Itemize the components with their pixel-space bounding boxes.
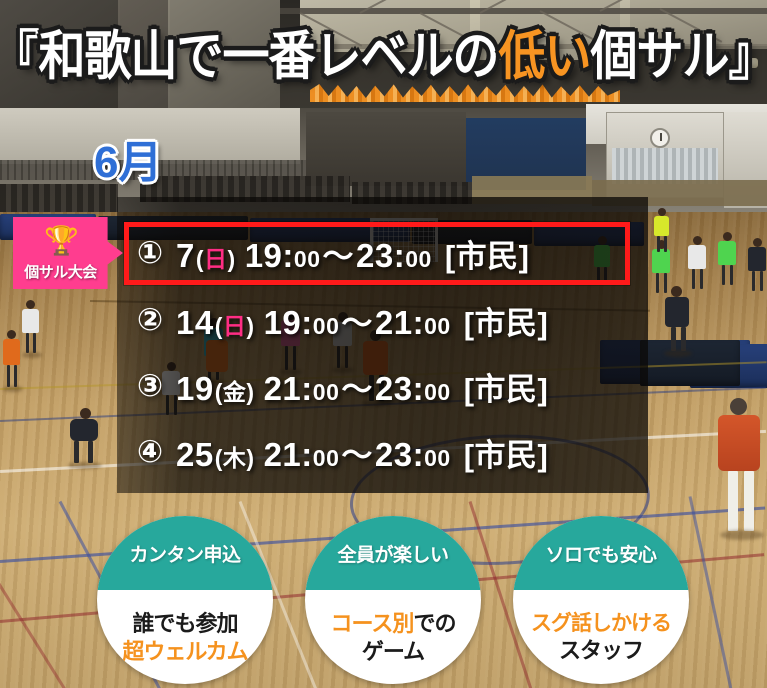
gym-booth-window	[612, 148, 718, 184]
schedule-weekday-inner: 金	[223, 379, 247, 405]
schedule-end-minute: 00	[424, 379, 451, 405]
feature-header-label: 全員が楽しい	[337, 540, 448, 567]
schedule-venue: [市民]	[464, 364, 549, 409]
schedule-weekday: (日)	[215, 307, 255, 341]
schedule-venue: [市民]	[464, 298, 549, 343]
tournament-badge-label: 個サル大会	[13, 261, 108, 282]
schedule-row-number: ④	[124, 434, 176, 470]
gym-clock	[650, 128, 670, 148]
schedule-day: 25	[176, 436, 214, 474]
feature-header: ソロでも安心	[513, 516, 689, 590]
schedule-end-hour: 21	[375, 304, 413, 341]
feature-line-2: スタッフ	[559, 639, 643, 664]
schedule-row[interactable]: ③ 19(金)21:00〜23:00[市民]	[124, 355, 634, 417]
feature-circle-easy-signup[interactable]: カンタン申込 誰でも参加 超ウェルカム	[97, 516, 273, 684]
feature-line-1-ink: での	[413, 611, 455, 636]
feature-line-2: 超ウェルカム	[122, 640, 247, 665]
schedule-end-minute: 00	[424, 313, 451, 339]
schedule-row-body: 25(木)21:00〜23:00[市民]	[176, 430, 548, 475]
feature-line-1: 誰でも参加	[132, 612, 237, 637]
feature-header: カンタン申込	[97, 516, 273, 590]
schedule-row-body: 14(日)19:00〜21:00[市民]	[176, 298, 548, 343]
schedule-end-time: 21:00	[375, 304, 451, 342]
schedule-weekday-inner: 日	[223, 313, 247, 339]
title-banner: 『和歌山で一番レベルの低い個サル』	[0, 0, 767, 110]
schedule-row-number: ②	[124, 302, 176, 338]
feature-line-2: ゲーム	[362, 640, 424, 665]
feature-header-label: ソロでも安心	[545, 540, 656, 567]
schedule-start-time: 21:00	[264, 436, 340, 474]
schedule-start-time: 21:00	[264, 370, 340, 408]
schedule-row[interactable]: ④ 25(木)21:00〜23:00[市民]	[124, 421, 634, 483]
schedule-start-minute: 00	[313, 313, 340, 339]
trophy-icon: 🏆	[44, 224, 78, 258]
schedule-weekday: (金)	[215, 373, 255, 407]
feature-circle-fun-for-all[interactable]: 全員が楽しい コース別での ゲーム	[305, 516, 481, 684]
schedule-start-minute: 00	[313, 379, 340, 405]
schedule-row-body: 19(金)21:00〜23:00[市民]	[176, 364, 548, 409]
title-close-bracket: 』	[729, 25, 767, 84]
schedule-weekday: (木)	[215, 439, 255, 473]
title-open-bracket: 『	[0, 25, 39, 84]
gym-bleachers	[0, 184, 118, 214]
feature-circles: カンタン申込 誰でも参加 超ウェルカム 全員が楽しい コース別での ゲーム ソロ…	[0, 516, 767, 688]
schedule-end-time: 23:00	[375, 436, 451, 474]
gym-dark-curtain	[306, 112, 466, 186]
schedule-day: 14	[176, 304, 214, 342]
month-label: 6月	[94, 141, 162, 185]
feature-header: 全員が楽しい	[305, 516, 481, 590]
schedule-start-hour: 21	[264, 370, 302, 407]
title-post-text: 個サル	[591, 25, 729, 84]
schedule-time-separator: 〜	[341, 430, 373, 475]
title-pre-text: 和歌山で一番レベルの	[39, 25, 499, 84]
schedule-start-hour: 21	[264, 436, 302, 473]
schedule-row-number: ③	[124, 368, 176, 404]
highlighted-schedule-box	[124, 222, 630, 285]
schedule-start-time: 19:00	[264, 304, 340, 342]
schedule-weekday-inner: 木	[223, 445, 247, 471]
schedule-end-hour: 23	[375, 370, 413, 407]
schedule-end-minute: 00	[424, 445, 451, 471]
feature-circle-solo-friendly[interactable]: ソロでも安心 スグ話しかける スタッフ	[513, 516, 689, 684]
schedule-day: 19	[176, 370, 214, 408]
schedule-row[interactable]: ② 14(日)19:00〜21:00[市民]	[124, 289, 634, 351]
schedule-end-hour: 23	[375, 436, 413, 473]
page-title: 『和歌山で一番レベルの低い個サル』	[0, 29, 767, 82]
tournament-badge: 🏆 個サル大会	[13, 217, 123, 289]
schedule-start-hour: 19	[264, 304, 302, 341]
schedule-time-separator: 〜	[341, 364, 373, 409]
schedule-time-separator: 〜	[341, 298, 373, 343]
feature-line-1: コース別での	[331, 612, 456, 637]
feature-body: スグ話しかける スタッフ	[513, 592, 689, 684]
schedule-end-time: 23:00	[375, 370, 451, 408]
feature-body: 誰でも参加 超ウェルカム	[97, 592, 273, 684]
schedule-venue: [市民]	[464, 430, 549, 475]
feature-header-label: カンタン申込	[129, 540, 240, 567]
feature-body: コース別での ゲーム	[305, 592, 481, 684]
feature-line-1-accent: コース別	[331, 611, 414, 636]
feature-line-1: スグ話しかける	[531, 612, 671, 636]
title-highlight-text: 低い	[499, 25, 591, 84]
flyer-canvas: 『和歌山で一番レベルの低い個サル』 6月 ① 7(日)19:00〜23:00[市…	[0, 0, 767, 688]
schedule-start-minute: 00	[313, 445, 340, 471]
